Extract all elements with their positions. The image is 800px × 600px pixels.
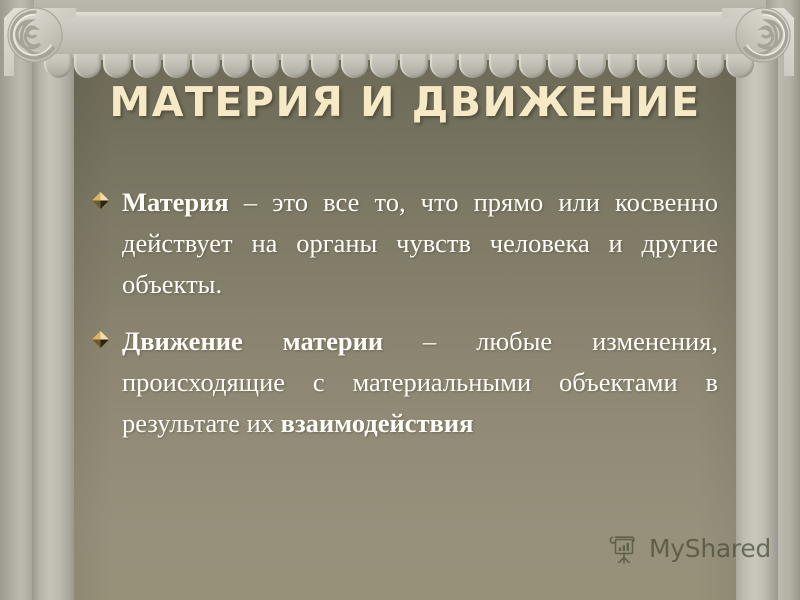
arch-ornament [370,54,398,78]
arch-ornament [548,54,576,78]
presentation-slide: МАТЕРИЯ И ДВИЖЕНИЕ Материя – это все то,… [0,0,800,600]
arch-ornament [430,54,458,78]
ionic-volute-icon [718,4,794,80]
arch-ornament [459,54,487,78]
bullet-strong-tail: взаимодействия [281,408,474,438]
arch-ornament [667,54,695,78]
arch-ornament [637,54,665,78]
flipchart-chart-icon [608,531,642,565]
diamond-bullet-icon [92,192,109,209]
arch-dentil-band [44,54,756,78]
bullet-lead: Движение материи [122,326,383,356]
ionic-volute-icon [4,4,80,80]
bullet-text: Материя – это все то, что прямо или косв… [74,182,736,305]
architrave-beam [28,12,772,56]
arch-ornament [341,54,369,78]
arch-ornament [608,54,636,78]
arch-ornament [133,54,161,78]
architrave-highlight [28,12,772,17]
arch-ornament [222,54,250,78]
arch-ornament [489,54,517,78]
right-column-shaft [734,58,778,600]
arch-ornament [519,54,547,78]
myshared-label: MyShared [649,534,771,563]
arch-ornament [252,54,280,78]
arch-ornament [192,54,220,78]
arch-ornament [163,54,191,78]
bullet-item: Движение материи – любые изменения, прои… [74,321,736,444]
myshared-watermark: MyShared [608,531,771,565]
left-edge-strip [0,0,34,600]
left-column-shaft [32,58,76,600]
bullet-text: Движение материи – любые изменения, прои… [74,321,736,444]
bullet-item: Материя – это все то, что прямо или косв… [74,182,736,305]
arch-ornament [103,54,131,78]
arch-ornament [311,54,339,78]
arch-ornament [578,54,606,78]
arch-ornament [281,54,309,78]
slide-body: Материя – это все то, что прямо или косв… [74,182,736,444]
arch-ornament [400,54,428,78]
diamond-bullet-icon [92,331,109,348]
bullet-lead: Материя [122,187,229,217]
slide-title: МАТЕРИЯ И ДВИЖЕНИЕ [74,78,736,126]
